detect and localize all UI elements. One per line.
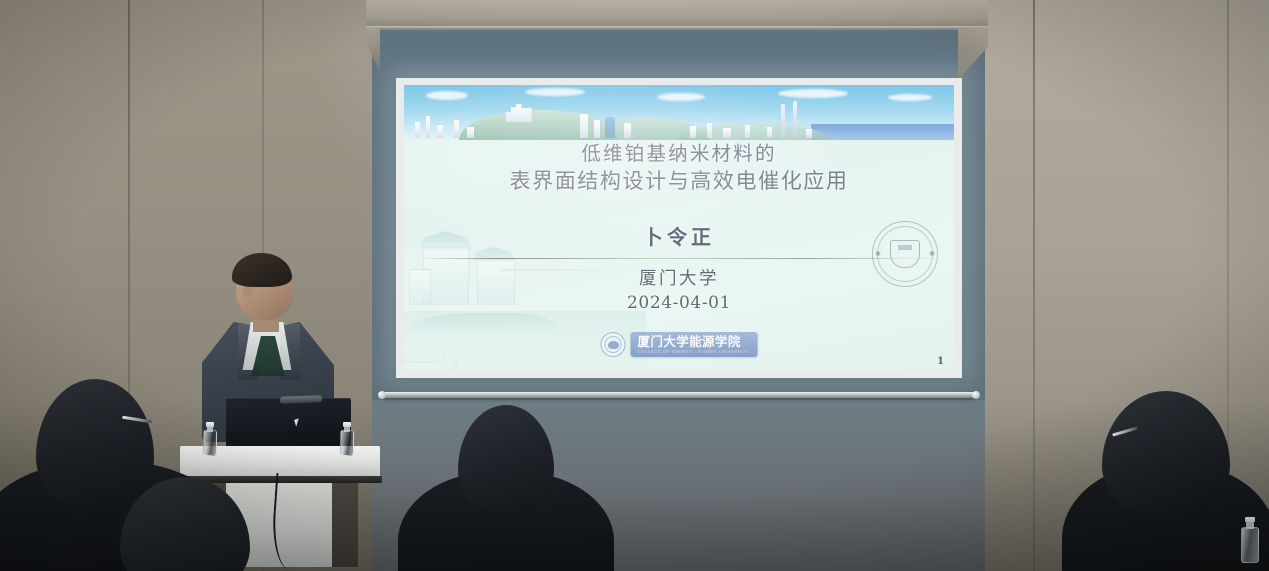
slide-author: 卜令正 [404, 221, 954, 250]
presenter-hair [232, 253, 292, 287]
presenter-lapel [280, 324, 300, 380]
xiamen-university-seal-icon: ✱ ✱ [872, 221, 938, 287]
laptop-hinge [280, 395, 322, 403]
slide-title-line2: 表界面结构设计与高效电催化应用 [404, 167, 954, 195]
screen-valance-lip [366, 26, 988, 31]
screen-weight-bar [382, 392, 976, 398]
laptop-cursor-icon [294, 418, 301, 426]
banner-twin-tower [793, 101, 797, 138]
college-seal-icon [601, 332, 626, 357]
banner-sea [811, 124, 954, 140]
college-logo-chinese: 厦门大学能源学院 [638, 335, 741, 348]
slide-title-line1: 低维铂基纳米材料的 [404, 141, 954, 167]
water-bottle[interactable] [339, 422, 355, 456]
projection-screen: 低维铂基纳米材料的 表界面结构设计与高效电催化应用 卜令正 厦门大学 2024-… [396, 78, 962, 378]
slide-date: 2024-04-01 [404, 293, 954, 313]
lectern-column-right [330, 482, 358, 567]
presentation-slide: 低维铂基纳米材料的 表界面结构设计与高效电催化应用 卜令正 厦门大学 2024-… [404, 85, 954, 371]
college-logo-plate: 厦门大学能源学院 COLLEGE OF ENERGY · XIAMEN UNIV… [631, 332, 758, 357]
water-bottle[interactable] [202, 422, 218, 456]
screen-bar-cap [972, 391, 980, 399]
slide-page-number: 1 [937, 356, 944, 367]
presenter-laptop[interactable] [226, 398, 351, 450]
screen-valance [366, 0, 988, 28]
audience-water-bottle[interactable] [1240, 517, 1260, 563]
banner-fortress [506, 104, 532, 122]
banner-twin-tower [781, 104, 785, 138]
college-logo-row: 厦门大学能源学院 COLLEGE OF ENERGY · XIAMEN UNIV… [601, 332, 758, 357]
presenter-lapel [238, 324, 258, 380]
lecture-hall-scene: 低维铂基纳米材料的 表界面结构设计与高效电催化应用 卜令正 厦门大学 2024-… [0, 0, 1269, 571]
college-logo-english: COLLEGE OF ENERGY · XIAMEN UNIVERSITY [638, 349, 750, 354]
slide-divider [415, 258, 943, 259]
skyline-banner-image [404, 85, 954, 140]
wall-seam [1033, 0, 1035, 571]
slide-organization: 厦门大学 [404, 265, 954, 290]
slide-title: 低维铂基纳米材料的 表界面结构设计与高效电催化应用 [404, 141, 954, 195]
